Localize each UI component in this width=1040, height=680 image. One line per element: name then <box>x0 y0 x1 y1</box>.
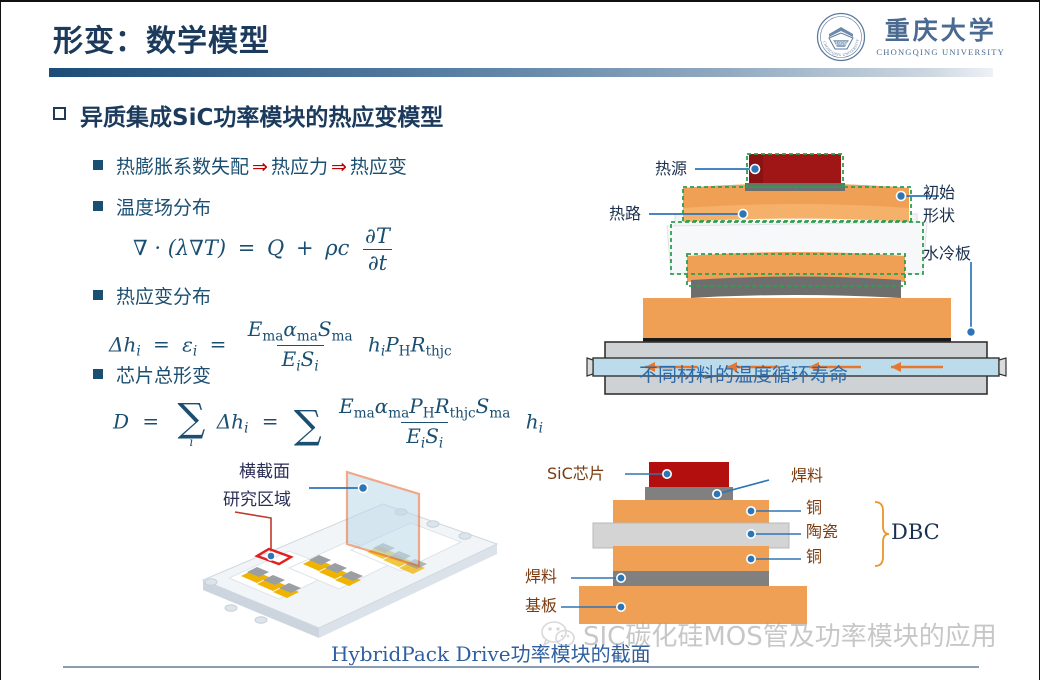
layer-copper-bottom <box>613 546 769 572</box>
label-initial-shape-line1: 初始 <box>923 184 955 202</box>
label-dbc: DBC <box>891 520 940 544</box>
implies-arrow-icon-1: ⇒ <box>249 156 271 178</box>
layer-solder-bottom <box>613 571 769 587</box>
header-gradient-rule <box>49 68 993 77</box>
implies-arrow-icon-2: ⇒ <box>328 156 350 178</box>
slide-canvas: 形变：数学模型 1929 CHONGQING UNIVERSITY 重庆大学 C… <box>0 0 1040 680</box>
hybridpack-module-illustration <box>187 462 517 642</box>
layer-copper-top <box>613 500 769 526</box>
bullet-heading-label: 异质集成SiC功率模块的热应变模型 <box>80 98 443 132</box>
solid-square-bullet-icon <box>93 369 103 379</box>
summation-symbol-2: ∑ <box>294 403 322 448</box>
bullet-item-cte-mismatch: 热膨胀系数失配⇒热应力⇒热应变 <box>93 152 593 179</box>
layer-ceramic <box>593 523 789 548</box>
university-logo: 1929 CHONGQING UNIVERSITY 重庆大学 CHONGQING… <box>816 12 1005 62</box>
label-cold-plate: 水冷板 <box>923 245 971 263</box>
label-cross-section: 横截面 <box>239 463 290 483</box>
hollow-square-bullet-icon <box>53 107 66 120</box>
bullet-item-thermal-strain-label: 热应变分布 <box>116 282 211 309</box>
label-solder-bottom: 焊料 <box>525 568 557 586</box>
caption-top-figure: 不同材料的温度循环寿命 <box>639 360 848 387</box>
formula-temperature-field: ∇ · (λ∇T) = Q + ρc ∂T ∂t <box>133 224 399 275</box>
university-seal-icon: 1929 CHONGQING UNIVERSITY <box>816 12 866 62</box>
bullet-heading: 异质集成SiC功率模块的热应变模型 <box>53 98 593 132</box>
caption-bottom-figure: HybridPack Drive功率模块的截面 <box>331 638 651 667</box>
page-title: 形变：数学模型 <box>53 16 270 60</box>
university-name-block: 重庆大学 CHONGQING UNIVERSITY <box>876 18 1005 57</box>
bullet-item-temperature-field-label: 温度场分布 <box>116 193 211 220</box>
solid-square-bullet-icon <box>93 290 103 300</box>
label-ceramic: 陶瓷 <box>806 523 838 541</box>
formula-total-deformation: D = ∑ i Δhi = ∑ EmaαmaPHRthjcSma EiSi hi <box>113 394 543 452</box>
solid-square-bullet-icon <box>93 201 103 211</box>
solid-square-bullet-icon <box>93 160 103 170</box>
bullet-item-thermal-strain: 热应变分布 <box>93 282 593 309</box>
label-heat-source: 热源 <box>655 160 687 178</box>
label-solder-top: 焊料 <box>791 467 823 485</box>
label-thermal-path: 热路 <box>609 205 641 223</box>
dbc-brace-icon <box>875 502 889 566</box>
label-copper-bottom: 铜 <box>806 548 822 566</box>
formula-thermal-strain: Δhi = εi = EmaαmaSma EiSi hiPHRthjc <box>109 317 452 375</box>
bullet-item-temperature-field: 温度场分布 <box>93 193 593 220</box>
layer-baseplate <box>579 586 807 624</box>
label-initial-shape-line2: 形状 <box>923 207 955 225</box>
label-copper-top: 铜 <box>806 499 822 517</box>
footer-rule <box>63 666 979 668</box>
summation-symbol-1: ∑ i <box>176 396 208 449</box>
university-name-cn: 重庆大学 <box>885 18 997 43</box>
svg-text:1929: 1929 <box>836 41 848 47</box>
bullet-item-cte-mismatch-label: 热膨胀系数失配⇒热应力⇒热应变 <box>116 152 407 179</box>
university-name-en: CHONGQING UNIVERSITY <box>876 47 1005 57</box>
label-baseplate: 基板 <box>525 597 557 615</box>
label-sic-chip: SiC芯片 <box>547 465 605 483</box>
label-study-region: 研究区域 <box>223 491 291 511</box>
